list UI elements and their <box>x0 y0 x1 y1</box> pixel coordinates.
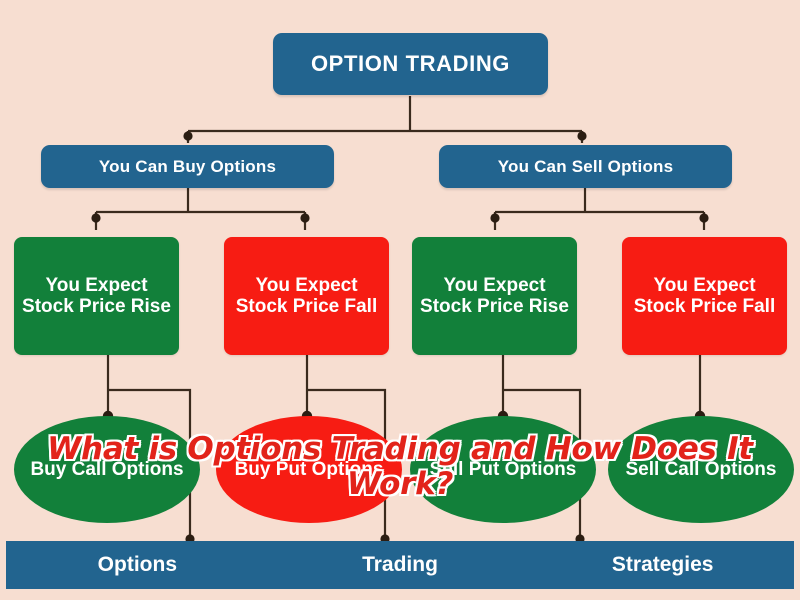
flowchart-canvas: OPTION TRADING You Can Buy Options You C… <box>0 0 800 600</box>
node-buy-call-options[interactable]: Buy Call Options <box>14 416 200 523</box>
node-sell-expect-rise[interactable]: You Expect Stock Price Rise <box>412 237 577 355</box>
node-you-can-sell-options[interactable]: You Can Sell Options <box>439 145 732 188</box>
node-buy-expect-rise[interactable]: You Expect Stock Price Rise <box>14 237 179 355</box>
node-option-trading[interactable]: OPTION TRADING <box>273 33 548 95</box>
node-sell-put-options[interactable]: Sell Put Options <box>410 416 596 523</box>
footer-bar: Options Trading Strategies <box>6 541 794 589</box>
node-buy-expect-fall[interactable]: You Expect Stock Price Fall <box>224 237 389 355</box>
footer-cell-trading[interactable]: Trading <box>269 553 532 577</box>
footer-cell-options[interactable]: Options <box>6 553 269 577</box>
footer-cell-strategies[interactable]: Strategies <box>531 553 794 577</box>
node-sell-call-options[interactable]: Sell Call Options <box>608 416 794 523</box>
node-buy-put-options[interactable]: Buy Put Options <box>216 416 402 523</box>
node-you-can-buy-options[interactable]: You Can Buy Options <box>41 145 334 188</box>
node-sell-expect-fall[interactable]: You Expect Stock Price Fall <box>622 237 787 355</box>
